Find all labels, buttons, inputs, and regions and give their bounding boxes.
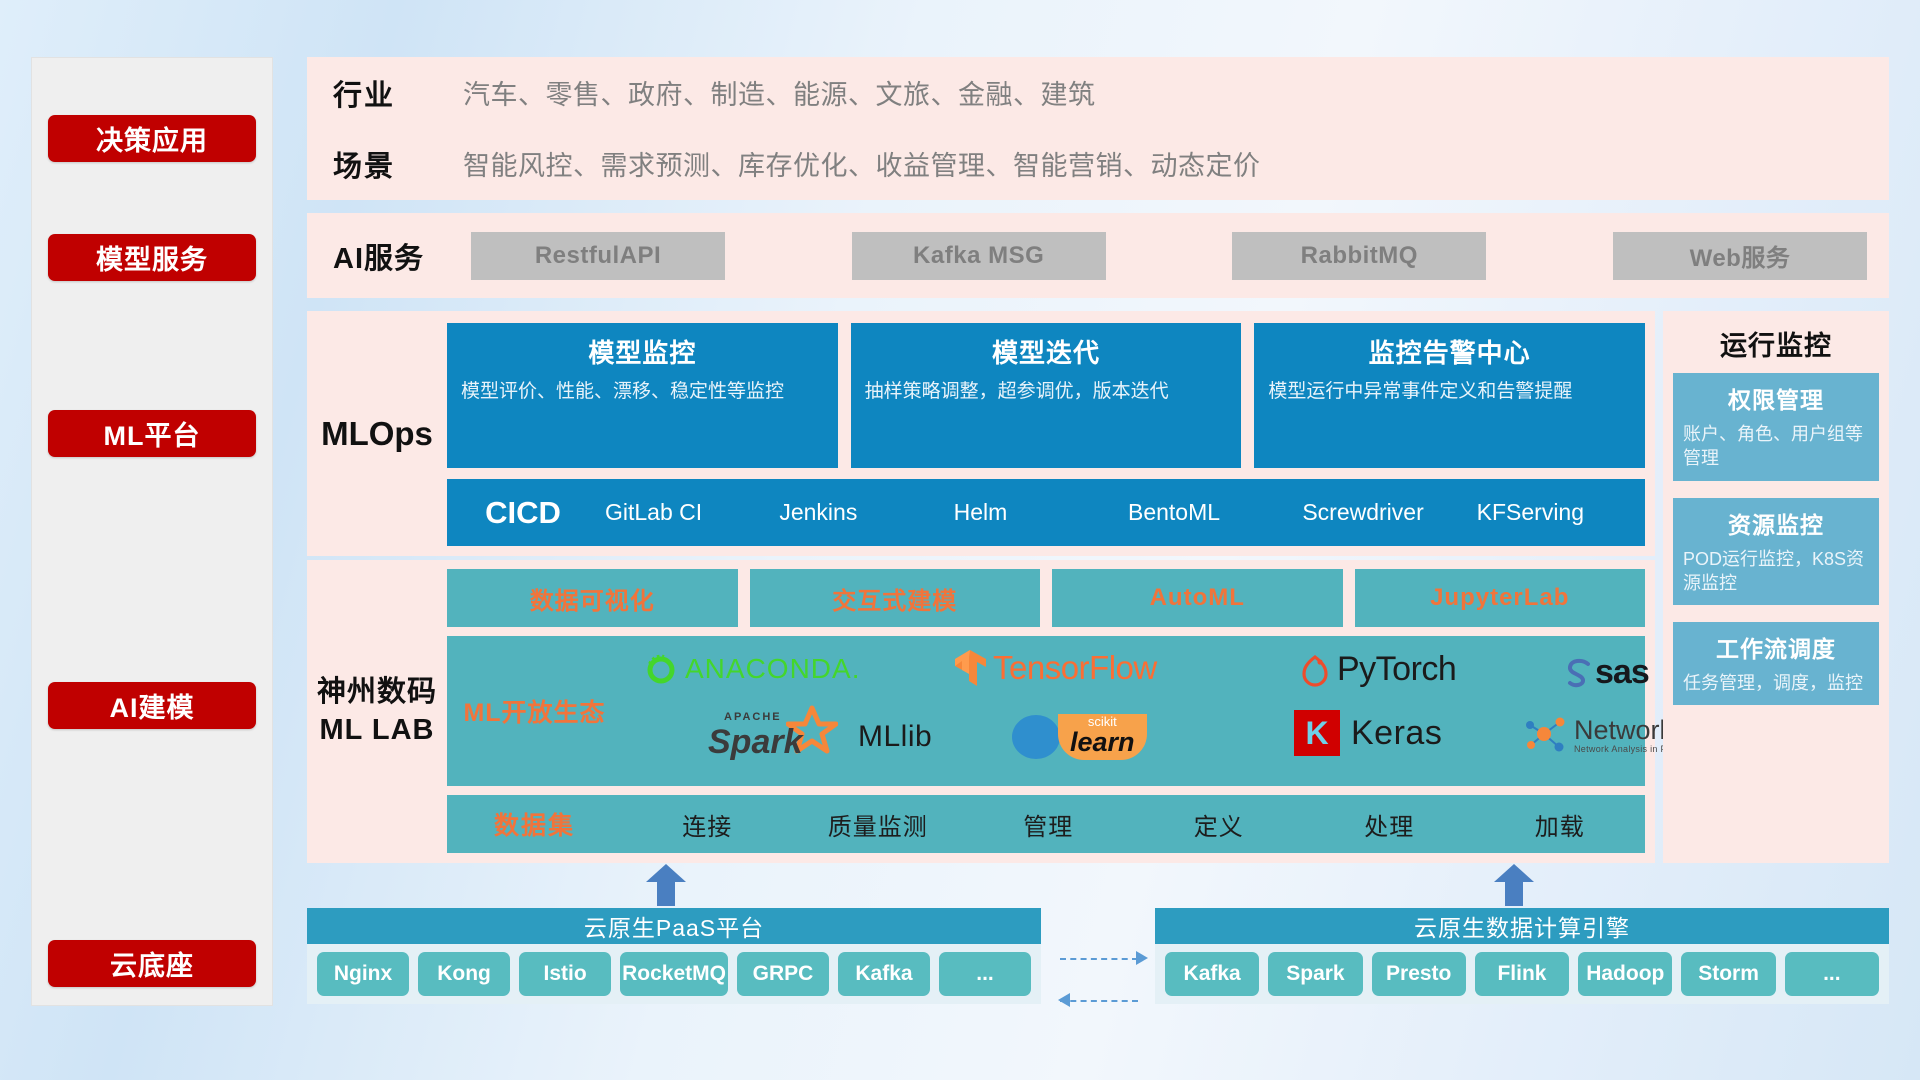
keras-mark-letter: K (1305, 715, 1328, 752)
spark-apache-text: APACHE (724, 711, 782, 723)
scikit-learn-badge: scikit learn (1058, 714, 1147, 760)
monitor-card-workflow[interactable]: 工作流调度 任务管理，调度，监控 (1673, 622, 1879, 705)
dataset-title: 数据集 (447, 806, 622, 842)
industry-scenario-band: 行业 汽车、零售、政府、制造、能源、文旅、金融、建筑 场景 智能风控、需求预测、… (307, 57, 1889, 200)
ai-modeling-band: 神州数码 ML LAB 数据可视化 交互式建模 AutoML JupyterLa… (307, 560, 1655, 863)
cloud-data-engine-items: Kafka Spark Presto Flink Hadoop Storm ..… (1155, 944, 1889, 1004)
dataset-item-connect[interactable]: 连接 (622, 807, 793, 842)
runtime-monitor-title: 运行监控 (1663, 311, 1889, 373)
anaconda-logo: ANACONDA. (644, 652, 860, 686)
ai-service-buttons: RestfulAPI Kafka MSG RabbitMQ Web服务 (463, 232, 1889, 280)
mlops-card-title: 监控告警中心 (1268, 333, 1631, 370)
dash-arrowhead-left (1058, 993, 1070, 1007)
ml-lab-label-line2: ML LAB (317, 712, 437, 749)
cloud-data-engine-title: 云原生数据计算引擎 (1155, 908, 1889, 944)
sas-mark-icon (1564, 657, 1594, 689)
cloud-paas-item-nginx[interactable]: Nginx (317, 952, 409, 996)
dash-arrowhead-right (1136, 951, 1148, 965)
mlops-band: MLOps 模型监控 模型评价、性能、漂移、稳定性等监控 模型迭代 抽样策略调整… (307, 311, 1655, 556)
spark-wordmark: Spark (708, 723, 803, 762)
pytorch-mark-icon (1300, 653, 1330, 687)
scikit-learn-logo: scikit learn (1010, 712, 1147, 762)
anaconda-wordmark: ANACONDA. (685, 653, 860, 685)
industry-row: 行业 汽车、零售、政府、制造、能源、文旅、金融、建筑 (307, 57, 1889, 128)
cloud-paas-item-rocketmq[interactable]: RocketMQ (620, 952, 728, 996)
scenario-label: 场景 (333, 143, 463, 185)
mlops-card-desc: 抽样策略调整，超参调优，版本迭代 (865, 379, 1228, 404)
cicd-item-helm[interactable]: Helm (948, 499, 1122, 525)
mlops-label: MLOps (307, 311, 447, 556)
dataset-row: 数据集 连接 质量监测 管理 定义 处理 加载 (447, 795, 1645, 853)
tensorflow-mark-icon (952, 648, 988, 688)
cloud-paas-item-grpc[interactable]: GRPC (737, 952, 829, 996)
layer-chip-label: AI建模 (110, 686, 195, 725)
mlops-card-list: 模型监控 模型评价、性能、漂移、稳定性等监控 模型迭代 抽样策略调整，超参调优，… (447, 323, 1645, 468)
ml-ecosystem-label: ML开放生态 (447, 693, 622, 729)
mllib-wordmark: MLlib (858, 720, 932, 754)
mlops-card-model-iteration[interactable]: 模型迭代 抽样策略调整，超参调优，版本迭代 (851, 323, 1242, 468)
dataset-item-process[interactable]: 处理 (1304, 807, 1475, 842)
industry-value: 汽车、零售、政府、制造、能源、文旅、金融、建筑 (463, 73, 1096, 112)
arrow-data-engine-to-modeling (1494, 864, 1534, 906)
learn-text: learn (1070, 728, 1135, 756)
monitor-card-desc: 账户、角色、用户组等管理 (1683, 422, 1869, 471)
ai-service-button-kafka-msg[interactable]: Kafka MSG (852, 232, 1106, 280)
cloud-data-item-more[interactable]: ... (1785, 952, 1879, 996)
mlops-card-desc: 模型运行中异常事件定义和告警提醒 (1268, 379, 1631, 404)
tool-chip-data-visualization[interactable]: 数据可视化 (447, 569, 738, 627)
ml-lab-label: 神州数码 ML LAB (307, 560, 447, 863)
architecture-diagram: 决策应用 模型服务 ML平台 AI建模 云底座 行业 汽车、零售、政府、制造、能… (0, 0, 1920, 1080)
cloud-paas-item-kafka[interactable]: Kafka (838, 952, 930, 996)
ai-service-label: AI服务 (333, 235, 463, 277)
cicd-item-gitlab-ci[interactable]: GitLab CI (599, 499, 773, 525)
ai-service-button-restfulapi[interactable]: RestfulAPI (471, 232, 725, 280)
pytorch-wordmark: PyTorch (1337, 650, 1456, 689)
cloud-paas-title: 云原生PaaS平台 (307, 908, 1041, 944)
sas-wordmark: sas (1595, 653, 1649, 692)
scenario-value: 智能风控、需求预测、库存优化、收益管理、智能营销、动态定价 (463, 144, 1261, 183)
ai-service-button-web[interactable]: Web服务 (1613, 232, 1867, 280)
dataset-item-manage[interactable]: 管理 (963, 807, 1134, 842)
runtime-monitor-panel: 运行监控 权限管理 账户、角色、用户组等管理 资源监控 POD运行监控，K8S资… (1663, 311, 1889, 863)
layer-chip-cloud-base[interactable]: 云底座 (48, 940, 256, 987)
cicd-bar: CICD GitLab CI Jenkins Helm BentoML Scre… (447, 479, 1645, 546)
layer-chip-label: ML平台 (104, 414, 201, 453)
cloud-data-item-flink[interactable]: Flink (1475, 952, 1569, 996)
ml-ecosystem-logos: ANACONDA. TensorFlow (622, 636, 1645, 786)
layer-chip-label: 云底座 (110, 944, 194, 983)
cloud-paas-block: 云原生PaaS平台 Nginx Kong Istio RocketMQ GRPC… (307, 908, 1041, 1004)
ml-lab-label-line1: 神州数码 (317, 674, 437, 711)
cicd-item-jenkins[interactable]: Jenkins (773, 499, 947, 525)
cloud-paas-item-istio[interactable]: Istio (519, 952, 611, 996)
layer-chip-label: 模型服务 (96, 238, 208, 277)
mlops-card-title: 模型迭代 (865, 333, 1228, 370)
modeling-tool-row: 数据可视化 交互式建模 AutoML JupyterLab (447, 569, 1645, 627)
ai-service-band: AI服务 RestfulAPI Kafka MSG RabbitMQ Web服务 (307, 213, 1889, 298)
layer-chip-ai-modeling[interactable]: AI建模 (48, 682, 256, 729)
mlops-card-model-monitoring[interactable]: 模型监控 模型评价、性能、漂移、稳定性等监控 (447, 323, 838, 468)
mlops-card-desc: 模型评价、性能、漂移、稳定性等监控 (461, 379, 824, 404)
monitor-card-title: 工作流调度 (1683, 630, 1869, 664)
networkx-graph-icon (1522, 714, 1568, 756)
dash-line-data-to-paas (1060, 1000, 1138, 1002)
sas-logo: sas (1564, 653, 1649, 692)
tool-chip-jupyterlab[interactable]: JupyterLab (1355, 569, 1646, 627)
cicd-item-kfserving[interactable]: KFServing (1471, 499, 1645, 525)
ml-ecosystem-row: ML开放生态 ANACONDA. (447, 636, 1645, 786)
cloud-data-item-spark[interactable]: Spark (1268, 952, 1362, 996)
dataset-item-load[interactable]: 加载 (1475, 807, 1646, 842)
cloud-data-item-presto[interactable]: Presto (1372, 952, 1466, 996)
anaconda-mark-icon (644, 652, 678, 686)
mlops-card-alert-center[interactable]: 监控告警中心 模型运行中异常事件定义和告警提醒 (1254, 323, 1645, 468)
cicd-item-bentoml[interactable]: BentoML (1122, 499, 1296, 525)
monitor-card-desc: POD运行监控，K8S资源监控 (1683, 547, 1869, 596)
keras-wordmark: Keras (1351, 714, 1442, 753)
monitor-card-title: 权限管理 (1683, 381, 1869, 415)
mlops-card-title: 模型监控 (461, 333, 824, 370)
arrow-paas-to-modeling (646, 864, 686, 906)
tool-chip-automl[interactable]: AutoML (1052, 569, 1343, 627)
layer-chip-ml-platform[interactable]: ML平台 (48, 410, 256, 457)
dataset-item-quality[interactable]: 质量监测 (793, 807, 964, 842)
cloud-paas-item-kong[interactable]: Kong (418, 952, 510, 996)
layer-chip-label: 决策应用 (96, 119, 208, 158)
monitor-card-desc: 任务管理，调度，监控 (1683, 671, 1869, 695)
layer-chip-decision[interactable]: 决策应用 (48, 115, 256, 162)
cloud-data-engine-block: 云原生数据计算引擎 Kafka Spark Presto Flink Hadoo… (1155, 908, 1889, 1004)
spark-mllib-logo: APACHE Spark MLlib (700, 709, 932, 765)
cicd-item-screwdriver[interactable]: Screwdriver (1296, 499, 1470, 525)
pytorch-logo: PyTorch (1300, 650, 1456, 689)
monitor-card-resource[interactable]: 资源监控 POD运行监控，K8S资源监控 (1673, 498, 1879, 606)
spark-mark-group: APACHE Spark (700, 709, 848, 765)
layer-chip-model-service[interactable]: 模型服务 (48, 234, 256, 281)
cloud-data-item-storm[interactable]: Storm (1681, 952, 1775, 996)
monitor-card-permission[interactable]: 权限管理 账户、角色、用户组等管理 (1673, 373, 1879, 481)
cloud-data-item-hadoop[interactable]: Hadoop (1578, 952, 1672, 996)
keras-mark-icon: K (1294, 710, 1340, 756)
cloud-paas-items: Nginx Kong Istio RocketMQ GRPC Kafka ... (307, 944, 1041, 1004)
tensorflow-wordmark: TensorFlow (993, 649, 1157, 687)
scikit-text: scikit (1070, 715, 1135, 728)
monitor-card-title: 资源监控 (1683, 506, 1869, 540)
dash-line-paas-to-data (1060, 958, 1138, 960)
tool-chip-interactive-modeling[interactable]: 交互式建模 (750, 569, 1041, 627)
cloud-data-item-kafka[interactable]: Kafka (1165, 952, 1259, 996)
layer-rail (31, 57, 273, 1006)
scenario-row: 场景 智能风控、需求预测、库存优化、收益管理、智能营销、动态定价 (307, 128, 1889, 199)
dataset-item-define[interactable]: 定义 (1134, 807, 1305, 842)
ai-service-button-rabbitmq[interactable]: RabbitMQ (1232, 232, 1486, 280)
cicd-title: CICD (447, 495, 599, 531)
industry-label: 行业 (333, 72, 463, 114)
cloud-paas-item-more[interactable]: ... (939, 952, 1031, 996)
keras-logo: K Keras (1294, 710, 1442, 756)
tensorflow-logo: TensorFlow (952, 648, 1157, 688)
